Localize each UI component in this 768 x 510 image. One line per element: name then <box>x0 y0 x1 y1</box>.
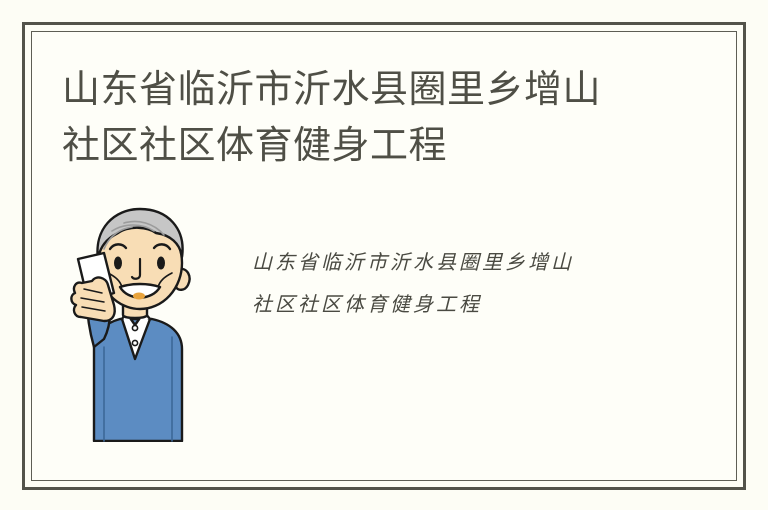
elderly-man-illustration <box>60 197 210 437</box>
banner-caption: 山东省临沂市沂水县圈里乡增山 社区社区体育健身工程 <box>252 241 574 325</box>
page-title: 山东省临沂市沂水县圈里乡增山 社区社区体育健身工程 <box>62 62 682 174</box>
banner-card-inner-border: 山东省临沂市沂水县圈里乡增山 社区社区体育健身工程 <box>31 31 737 481</box>
banner-card-outer-border: 山东省临沂市沂水县圈里乡增山 社区社区体育健身工程 <box>22 22 746 490</box>
banner-content-row: 山东省临沂市沂水县圈里乡增山 社区社区体育健身工程 <box>60 197 712 447</box>
